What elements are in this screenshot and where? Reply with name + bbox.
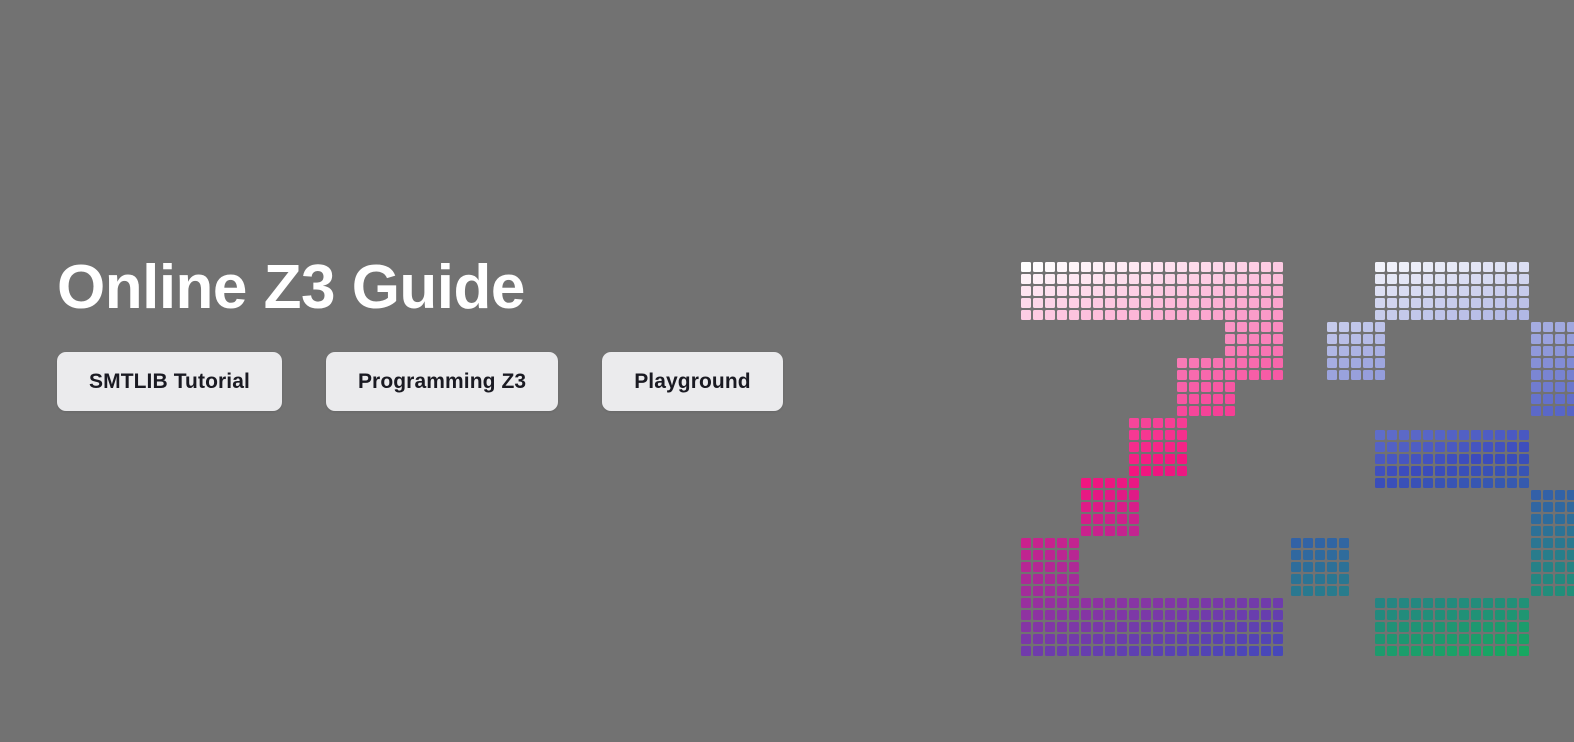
logo-pixel <box>1495 286 1505 296</box>
logo-pixel <box>1237 310 1247 320</box>
logo-pixel <box>1165 298 1175 308</box>
logo-pixel <box>1291 586 1301 596</box>
logo-pixel <box>1531 394 1541 404</box>
logo-pixel <box>1399 298 1409 308</box>
logo-pixel <box>1129 454 1139 464</box>
logo-pixel <box>1447 466 1457 476</box>
logo-pixel <box>1177 634 1187 644</box>
logo-pixel <box>1141 262 1151 272</box>
logo-pixel <box>1399 262 1409 272</box>
logo-pixel <box>1069 262 1079 272</box>
logo-pixel <box>1483 478 1493 488</box>
logo-pixel <box>1471 310 1481 320</box>
logo-pixel <box>1165 622 1175 632</box>
logo-pixel <box>1225 322 1235 332</box>
logo-pixel <box>1327 322 1337 332</box>
logo-pixel <box>1411 598 1421 608</box>
logo-pixel <box>1093 310 1103 320</box>
logo-pixel <box>1093 502 1103 512</box>
logo-pixel <box>1177 454 1187 464</box>
logo-pixel <box>1363 370 1373 380</box>
logo-pixel <box>1045 646 1055 656</box>
logo-pixel <box>1021 550 1031 560</box>
logo-pixel <box>1447 646 1457 656</box>
logo-pixel <box>1543 322 1553 332</box>
logo-pixel <box>1447 310 1457 320</box>
logo-pixel <box>1249 346 1259 356</box>
logo-pixel <box>1165 610 1175 620</box>
logo-pixel <box>1201 382 1211 392</box>
logo-pixel <box>1327 586 1337 596</box>
logo-pixel <box>1237 262 1247 272</box>
logo-pixel <box>1093 490 1103 500</box>
logo-pixel <box>1387 634 1397 644</box>
logo-pixel <box>1261 334 1271 344</box>
logo-pixel <box>1531 538 1541 548</box>
logo-pixel <box>1105 502 1115 512</box>
logo-pixel <box>1435 622 1445 632</box>
logo-pixel <box>1435 442 1445 452</box>
logo-pixel <box>1129 646 1139 656</box>
logo-pixel <box>1495 430 1505 440</box>
logo-pixel <box>1399 466 1409 476</box>
logo-pixel <box>1435 274 1445 284</box>
logo-pixel <box>1261 262 1271 272</box>
logo-pixel <box>1141 466 1151 476</box>
logo-pixel <box>1225 370 1235 380</box>
logo-pixel <box>1531 526 1541 536</box>
logo-pixel <box>1249 358 1259 368</box>
logo-pixel <box>1081 622 1091 632</box>
smtlib-tutorial-button[interactable]: SMTLIB Tutorial <box>57 352 282 411</box>
logo-pixel <box>1057 574 1067 584</box>
logo-pixel <box>1249 286 1259 296</box>
logo-pixel <box>1261 358 1271 368</box>
logo-pixel <box>1531 562 1541 572</box>
logo-pixel <box>1201 634 1211 644</box>
logo-pixel <box>1459 454 1469 464</box>
logo-pixel <box>1033 310 1043 320</box>
logo-pixel <box>1375 634 1385 644</box>
logo-pixel <box>1189 406 1199 416</box>
logo-pixel <box>1117 298 1127 308</box>
logo-pixel <box>1177 598 1187 608</box>
logo-pixel <box>1399 286 1409 296</box>
logo-pixel <box>1483 442 1493 452</box>
logo-pixel <box>1249 298 1259 308</box>
logo-pixel <box>1273 346 1283 356</box>
logo-pixel <box>1273 286 1283 296</box>
logo-pixel <box>1555 334 1565 344</box>
logo-pixel <box>1249 598 1259 608</box>
logo-pixel <box>1471 610 1481 620</box>
logo-pixel <box>1423 466 1433 476</box>
logo-pixel <box>1471 286 1481 296</box>
logo-pixel <box>1021 610 1031 620</box>
logo-pixel <box>1411 610 1421 620</box>
logo-pixel <box>1519 442 1529 452</box>
logo-pixel <box>1495 634 1505 644</box>
logo-pixel <box>1399 622 1409 632</box>
logo-pixel <box>1399 598 1409 608</box>
logo-pixel <box>1411 466 1421 476</box>
logo-pixel <box>1033 646 1043 656</box>
logo-pixel <box>1423 598 1433 608</box>
logo-pixel <box>1495 610 1505 620</box>
logo-pixel <box>1273 634 1283 644</box>
logo-pixel <box>1237 298 1247 308</box>
logo-pixel <box>1117 262 1127 272</box>
logo-pixel <box>1483 274 1493 284</box>
logo-pixel <box>1387 298 1397 308</box>
logo-pixel <box>1225 334 1235 344</box>
logo-pixel <box>1045 310 1055 320</box>
logo-pixel <box>1507 478 1517 488</box>
logo-pixel <box>1567 334 1574 344</box>
logo-pixel <box>1057 262 1067 272</box>
logo-pixel <box>1129 478 1139 488</box>
logo-pixel <box>1069 298 1079 308</box>
logo-pixel <box>1117 490 1127 500</box>
logo-pixel <box>1567 394 1574 404</box>
logo-pixel <box>1153 646 1163 656</box>
logo-pixel <box>1021 646 1031 656</box>
logo-pixel <box>1165 310 1175 320</box>
logo-pixel <box>1261 298 1271 308</box>
logo-pixel <box>1189 298 1199 308</box>
logo-pixel <box>1423 454 1433 464</box>
logo-pixel <box>1033 574 1043 584</box>
logo-pixel <box>1555 586 1565 596</box>
logo-pixel <box>1531 358 1541 368</box>
logo-pixel <box>1261 370 1271 380</box>
logo-pixel <box>1483 454 1493 464</box>
logo-pixel <box>1225 610 1235 620</box>
logo-pixel <box>1495 478 1505 488</box>
logo-pixel <box>1375 310 1385 320</box>
logo-pixel <box>1165 442 1175 452</box>
logo-pixel <box>1261 598 1271 608</box>
logo-pixel <box>1201 310 1211 320</box>
logo-pixel <box>1303 538 1313 548</box>
logo-pixel <box>1519 610 1529 620</box>
logo-pixel <box>1177 298 1187 308</box>
logo-pixel <box>1081 274 1091 284</box>
logo-pixel <box>1273 298 1283 308</box>
logo-pixel <box>1399 430 1409 440</box>
logo-pixel <box>1375 262 1385 272</box>
logo-pixel <box>1531 586 1541 596</box>
logo-pixel <box>1213 598 1223 608</box>
logo-pixel <box>1543 370 1553 380</box>
logo-pixel <box>1033 550 1043 560</box>
logo-pixel <box>1495 298 1505 308</box>
logo-pixel <box>1129 502 1139 512</box>
logo-pixel <box>1165 430 1175 440</box>
logo-pixel <box>1567 550 1574 560</box>
logo-pixel <box>1531 382 1541 392</box>
logo-pixel <box>1327 370 1337 380</box>
logo-pixel <box>1375 646 1385 656</box>
logo-pixel <box>1339 562 1349 572</box>
logo-pixel <box>1057 634 1067 644</box>
logo-pixel <box>1543 586 1553 596</box>
logo-pixel <box>1057 646 1067 656</box>
logo-pixel <box>1459 442 1469 452</box>
logo-pixel <box>1177 262 1187 272</box>
logo-pixel <box>1177 358 1187 368</box>
logo-pixel <box>1375 478 1385 488</box>
logo-pixel <box>1411 274 1421 284</box>
logo-pixel <box>1339 346 1349 356</box>
logo-pixel <box>1057 598 1067 608</box>
logo-pixel <box>1165 262 1175 272</box>
logo-pixel <box>1495 622 1505 632</box>
logo-pixel <box>1555 370 1565 380</box>
logo-pixel <box>1045 634 1055 644</box>
logo-pixel <box>1435 430 1445 440</box>
logo-pixel <box>1153 454 1163 464</box>
logo-pixel <box>1237 598 1247 608</box>
logo-pixel <box>1153 622 1163 632</box>
logo-pixel <box>1225 598 1235 608</box>
logo-pixel <box>1471 466 1481 476</box>
playground-button[interactable]: Playground <box>602 352 783 411</box>
logo-pixel <box>1129 622 1139 632</box>
logo-pixel <box>1189 286 1199 296</box>
logo-pixel <box>1177 382 1187 392</box>
logo-pixel <box>1423 646 1433 656</box>
logo-pixel <box>1459 310 1469 320</box>
logo-pixel <box>1387 274 1397 284</box>
logo-pixel <box>1339 574 1349 584</box>
logo-pixel <box>1129 274 1139 284</box>
logo-pixel <box>1117 286 1127 296</box>
logo-pixel <box>1273 370 1283 380</box>
logo-pixel <box>1555 346 1565 356</box>
logo-pixel <box>1141 622 1151 632</box>
logo-pixel <box>1057 610 1067 620</box>
logo-pixel <box>1189 382 1199 392</box>
logo-pixel <box>1129 514 1139 524</box>
logo-pixel <box>1423 622 1433 632</box>
logo-pixel <box>1057 298 1067 308</box>
logo-pixel <box>1153 430 1163 440</box>
logo-pixel <box>1507 466 1517 476</box>
logo-pixel <box>1543 346 1553 356</box>
logo-pixel <box>1021 598 1031 608</box>
logo-pixel <box>1423 634 1433 644</box>
logo-pixel <box>1543 406 1553 416</box>
logo-pixel <box>1555 358 1565 368</box>
logo-pixel <box>1459 262 1469 272</box>
logo-pixel <box>1543 490 1553 500</box>
logo-pixel <box>1249 262 1259 272</box>
logo-pixel <box>1423 442 1433 452</box>
logo-pixel <box>1435 466 1445 476</box>
logo-pixel <box>1495 466 1505 476</box>
logo-pixel <box>1375 430 1385 440</box>
logo-pixel <box>1519 430 1529 440</box>
logo-pixel <box>1129 598 1139 608</box>
logo-pixel <box>1105 490 1115 500</box>
logo-pixel <box>1093 634 1103 644</box>
logo-pixel <box>1435 598 1445 608</box>
logo-pixel <box>1273 358 1283 368</box>
logo-pixel <box>1213 274 1223 284</box>
logo-pixel <box>1519 634 1529 644</box>
logo-pixel <box>1327 358 1337 368</box>
logo-pixel <box>1567 382 1574 392</box>
logo-pixel <box>1483 430 1493 440</box>
logo-pixel <box>1069 586 1079 596</box>
logo-pixel <box>1495 274 1505 284</box>
programming-z3-button[interactable]: Programming Z3 <box>326 352 558 411</box>
logo-pixel <box>1435 634 1445 644</box>
logo-pixel <box>1105 526 1115 536</box>
logo-pixel <box>1459 286 1469 296</box>
logo-pixel <box>1273 322 1283 332</box>
logo-pixel <box>1411 286 1421 296</box>
logo-pixel <box>1273 622 1283 632</box>
logo-pixel <box>1483 634 1493 644</box>
logo-pixel <box>1261 622 1271 632</box>
logo-pixel <box>1447 454 1457 464</box>
logo-pixel <box>1567 514 1574 524</box>
logo-pixel <box>1189 262 1199 272</box>
logo-pixel <box>1495 454 1505 464</box>
logo-pixel <box>1339 550 1349 560</box>
logo-pixel <box>1399 478 1409 488</box>
logo-pixel <box>1555 502 1565 512</box>
logo-pixel <box>1165 598 1175 608</box>
logo-pixel <box>1351 346 1361 356</box>
logo-pixel <box>1249 310 1259 320</box>
logo-pixel <box>1177 310 1187 320</box>
logo-pixel <box>1117 478 1127 488</box>
logo-pixel <box>1117 526 1127 536</box>
logo-pixel <box>1507 634 1517 644</box>
logo-pixel <box>1375 598 1385 608</box>
logo-pixel <box>1471 622 1481 632</box>
logo-pixel <box>1375 286 1385 296</box>
logo-pixel <box>1057 310 1067 320</box>
logo-pixel <box>1303 586 1313 596</box>
logo-pixel <box>1375 322 1385 332</box>
logo-pixel <box>1057 586 1067 596</box>
logo-pixel <box>1045 262 1055 272</box>
logo-pixel <box>1105 610 1115 620</box>
logo-pixel <box>1291 574 1301 584</box>
logo-pixel <box>1459 598 1469 608</box>
logo-pixel <box>1021 574 1031 584</box>
logo-pixel <box>1459 478 1469 488</box>
logo-pixel <box>1225 274 1235 284</box>
logo-pixel <box>1165 634 1175 644</box>
logo-pixel <box>1225 634 1235 644</box>
logo-pixel <box>1033 298 1043 308</box>
logo-pixel <box>1225 310 1235 320</box>
logo-pixel <box>1423 262 1433 272</box>
logo-pixel <box>1555 382 1565 392</box>
logo-pixel <box>1375 334 1385 344</box>
logo-pixel <box>1237 370 1247 380</box>
logo-pixel <box>1153 598 1163 608</box>
logo-pixel <box>1471 634 1481 644</box>
logo-pixel <box>1483 310 1493 320</box>
logo-pixel <box>1189 370 1199 380</box>
logo-pixel <box>1261 634 1271 644</box>
logo-pixel <box>1375 466 1385 476</box>
hero-button-row: SMTLIB Tutorial Programming Z3 Playgroun… <box>57 352 957 411</box>
logo-pixel <box>1045 610 1055 620</box>
logo-pixel <box>1339 370 1349 380</box>
logo-pixel <box>1399 274 1409 284</box>
logo-pixel <box>1327 538 1337 548</box>
logo-pixel <box>1423 310 1433 320</box>
logo-pixel <box>1435 286 1445 296</box>
logo-pixel <box>1375 346 1385 356</box>
logo-pixel <box>1201 406 1211 416</box>
logo-pixel <box>1105 622 1115 632</box>
logo-pixel <box>1567 370 1574 380</box>
logo-pixel <box>1249 370 1259 380</box>
logo-pixel <box>1249 274 1259 284</box>
logo-pixel <box>1177 370 1187 380</box>
logo-pixel <box>1177 430 1187 440</box>
logo-pixel <box>1153 274 1163 284</box>
logo-pixel <box>1459 298 1469 308</box>
logo-pixel <box>1081 610 1091 620</box>
logo-pixel <box>1153 418 1163 428</box>
logo-pixel <box>1213 622 1223 632</box>
logo-pixel <box>1177 406 1187 416</box>
logo-pixel <box>1105 262 1115 272</box>
logo-pixel <box>1141 298 1151 308</box>
logo-pixel <box>1237 346 1247 356</box>
logo-pixel <box>1387 610 1397 620</box>
logo-pixel <box>1141 442 1151 452</box>
logo-pixel <box>1375 298 1385 308</box>
logo-pixel <box>1165 286 1175 296</box>
logo-pixel <box>1375 274 1385 284</box>
logo-pixel <box>1045 622 1055 632</box>
logo-pixel <box>1177 610 1187 620</box>
logo-pixel <box>1459 622 1469 632</box>
logo-pixel <box>1411 622 1421 632</box>
logo-pixel <box>1237 322 1247 332</box>
logo-pixel <box>1057 538 1067 548</box>
logo-pixel <box>1129 610 1139 620</box>
logo-pixel <box>1519 454 1529 464</box>
logo-pixel <box>1093 274 1103 284</box>
logo-pixel <box>1555 490 1565 500</box>
logo-pixel <box>1069 622 1079 632</box>
logo-pixel <box>1021 286 1031 296</box>
logo-pixel <box>1129 418 1139 428</box>
logo-pixel <box>1447 286 1457 296</box>
logo-pixel <box>1069 610 1079 620</box>
logo-pixel <box>1021 634 1031 644</box>
logo-pixel <box>1213 370 1223 380</box>
logo-pixel <box>1459 430 1469 440</box>
logo-pixel <box>1021 274 1031 284</box>
logo-pixel <box>1237 622 1247 632</box>
logo-pixel <box>1081 646 1091 656</box>
logo-pixel <box>1225 358 1235 368</box>
logo-pixel <box>1129 634 1139 644</box>
logo-pixel <box>1315 586 1325 596</box>
